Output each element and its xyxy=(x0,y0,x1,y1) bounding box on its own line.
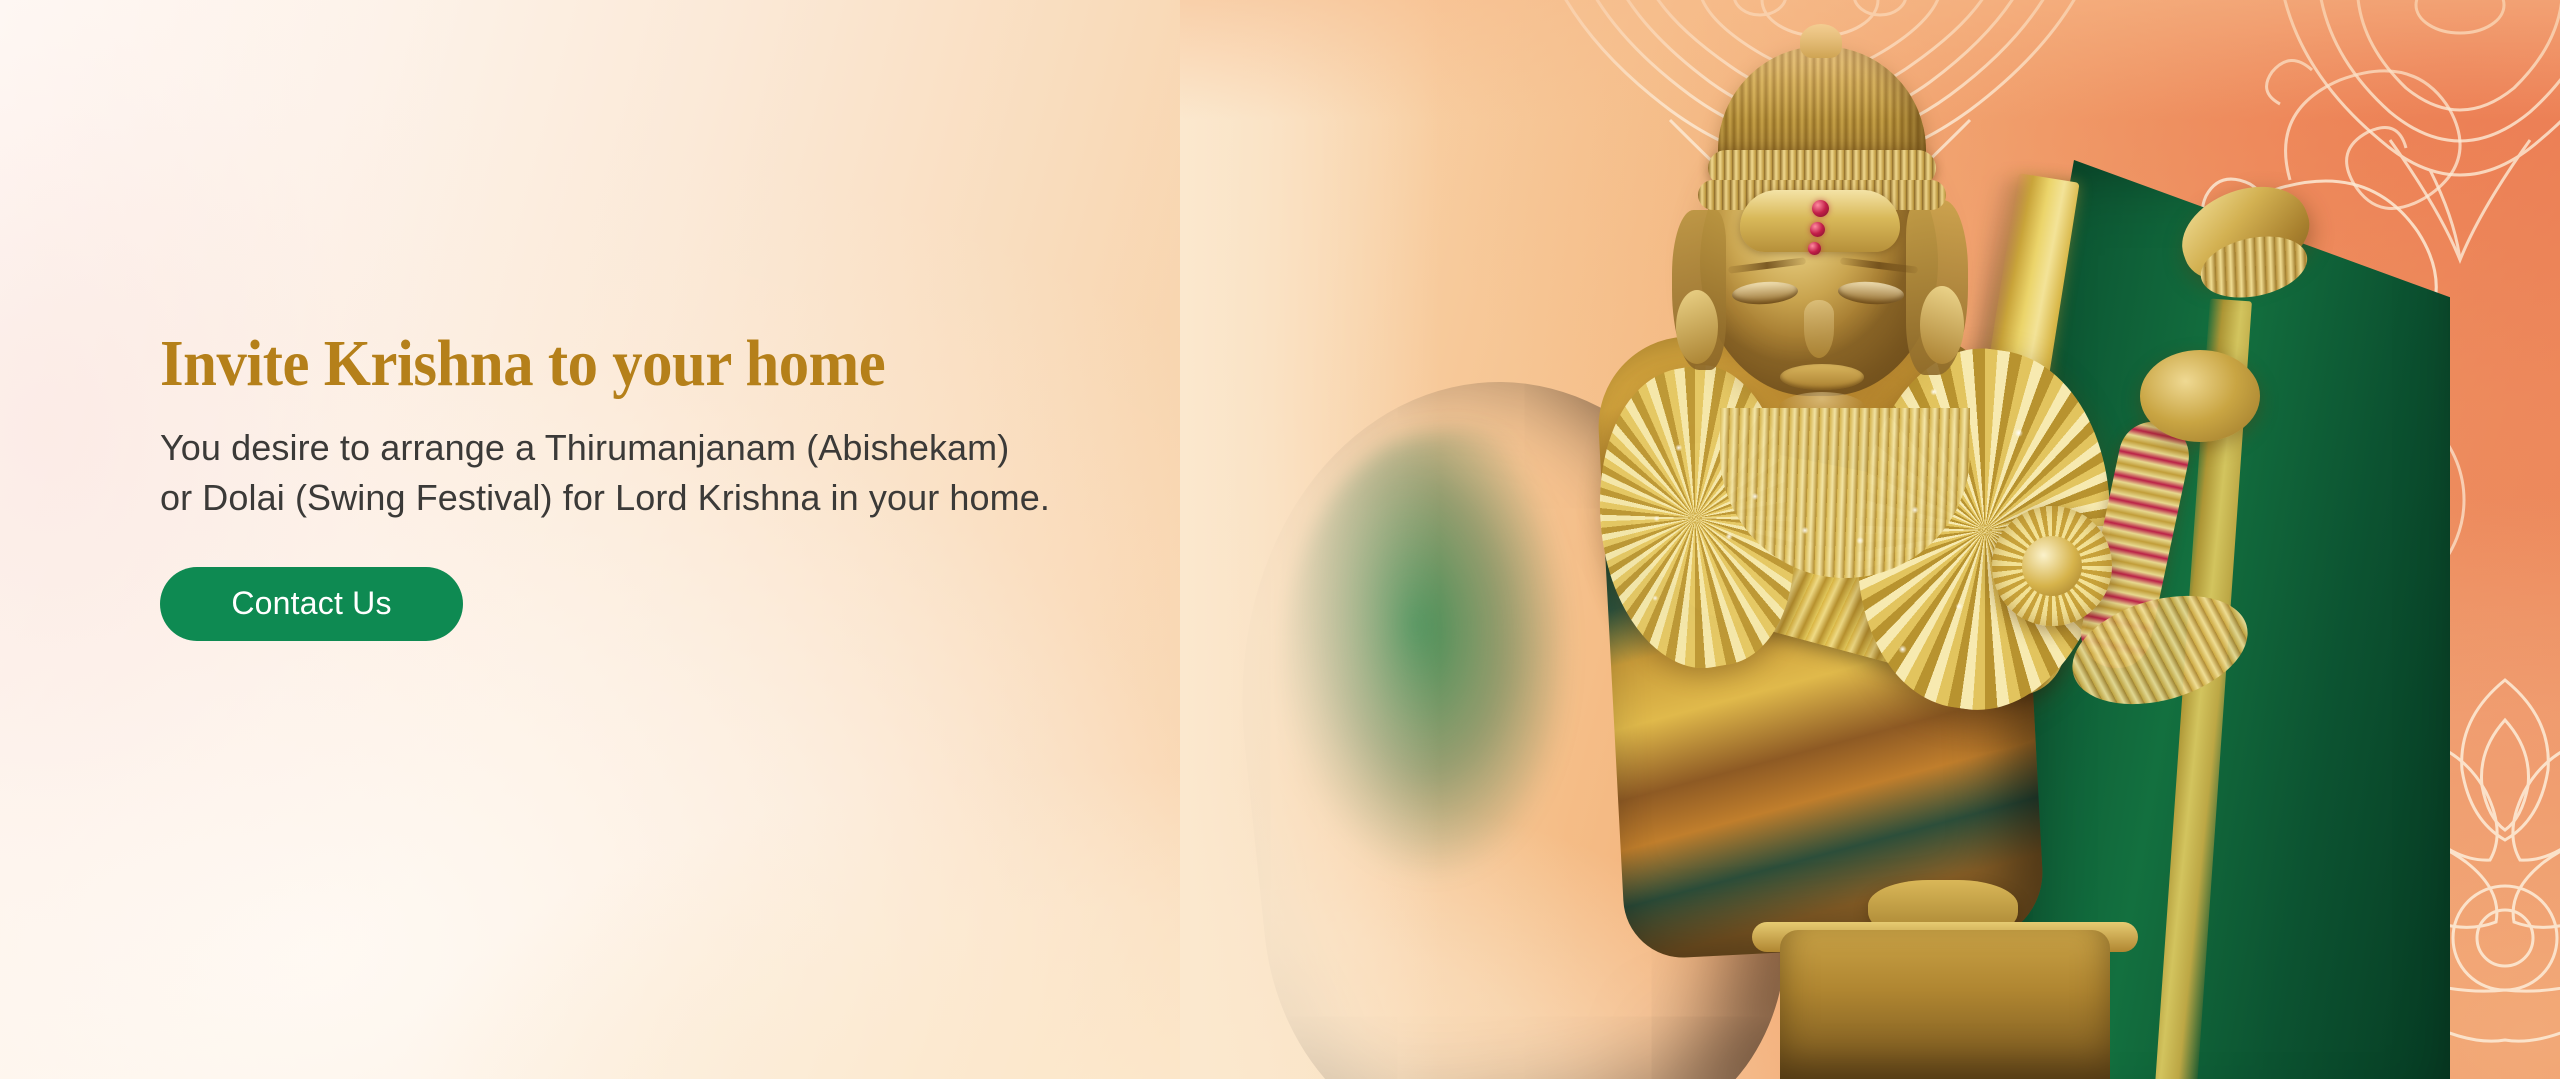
banner-description: You desire to arrange a Thirumanjanam (A… xyxy=(160,423,1410,522)
nose xyxy=(1804,300,1834,358)
gold-medallion-core xyxy=(2022,536,2082,596)
ear-ornament-right xyxy=(1920,286,1964,364)
banner-content: Invite Krishna to your home You desire t… xyxy=(160,330,1410,641)
lips xyxy=(1780,364,1864,390)
ear-ornament-left xyxy=(1676,290,1718,364)
ruby-gem-upper xyxy=(1812,200,1829,217)
ruby-gem-middle xyxy=(1810,222,1825,237)
contact-us-button[interactable]: Contact Us xyxy=(160,567,463,641)
banner-description-line-2: or Dolai (Swing Festival) for Lord Krish… xyxy=(160,473,1410,523)
gold-hand xyxy=(2140,350,2260,442)
photo-blend-top-edge xyxy=(1180,0,2560,120)
pedestal xyxy=(1780,930,2110,1079)
page-title: Invite Krishna to your home xyxy=(160,330,1310,397)
ruby-gem-lower xyxy=(1808,242,1821,255)
invite-krishna-banner: Invite Krishna to your home You desire t… xyxy=(0,0,2560,1079)
banner-description-line-1: You desire to arrange a Thirumanjanam (A… xyxy=(160,423,1410,473)
